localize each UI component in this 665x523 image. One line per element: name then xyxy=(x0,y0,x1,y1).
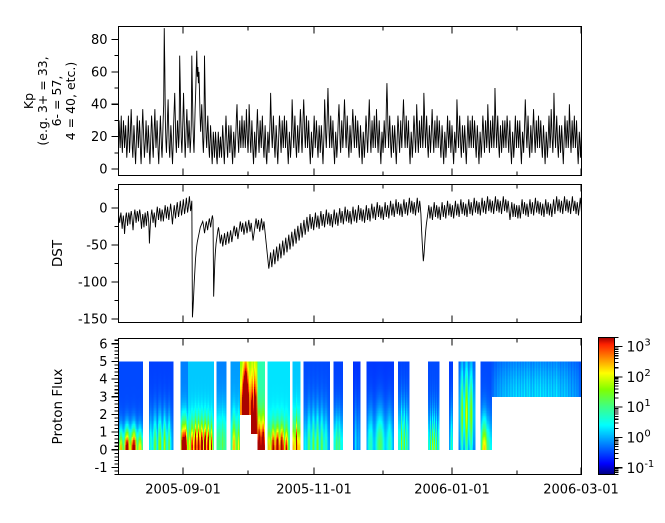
kp-ytick-label: 60 xyxy=(91,65,108,80)
kp-ytick-label: 20 xyxy=(91,130,108,145)
colorbar xyxy=(599,338,615,475)
kp-ytick-label: 40 xyxy=(91,98,108,113)
pf-ytick-label: 3 xyxy=(99,390,107,405)
xtick-label: 2005-09-01 xyxy=(145,483,221,498)
kp-axis-title-line: Kp xyxy=(21,93,36,109)
dst-ytick-label: -50 xyxy=(86,239,107,254)
pf-ytick-label: 2 xyxy=(99,408,107,423)
plot-svg: 0204060800-50-100-150-101234562005-09-01… xyxy=(0,0,665,523)
kp-axis-title-line: (e.g. 3+ = 33, xyxy=(35,56,50,145)
kp-axis-title-line: 4 = 40, etc.) xyxy=(63,62,78,141)
pf-ytick-label: 5 xyxy=(99,355,107,370)
proton-flux-axis-title: Proton Flux xyxy=(50,369,66,445)
pf-ytick-label: 1 xyxy=(99,426,107,441)
pf-ytick-label: 6 xyxy=(99,337,107,352)
kp-ytick-label: 0 xyxy=(99,163,107,178)
xtick-label: 2006-03-01 xyxy=(543,483,619,498)
dst-ytick-label: 0 xyxy=(99,202,107,217)
pf-ytick-label: 4 xyxy=(99,373,107,388)
kp-ytick-label: 80 xyxy=(91,33,108,48)
dst-axis-title: DST xyxy=(50,239,66,267)
pf-ytick-label: 0 xyxy=(99,443,107,458)
dst-ytick-label: -100 xyxy=(78,275,108,290)
pf-ytick-label: -1 xyxy=(95,461,108,476)
xtick-label: 2006-01-01 xyxy=(414,483,490,498)
dst-ytick-label: -150 xyxy=(78,312,108,327)
figure-canvas: 0204060800-50-100-150-101234562005-09-01… xyxy=(0,0,665,523)
kp-axis-title-line: 6- = 57, xyxy=(49,76,64,127)
xtick-label: 2005-11-01 xyxy=(276,483,352,498)
